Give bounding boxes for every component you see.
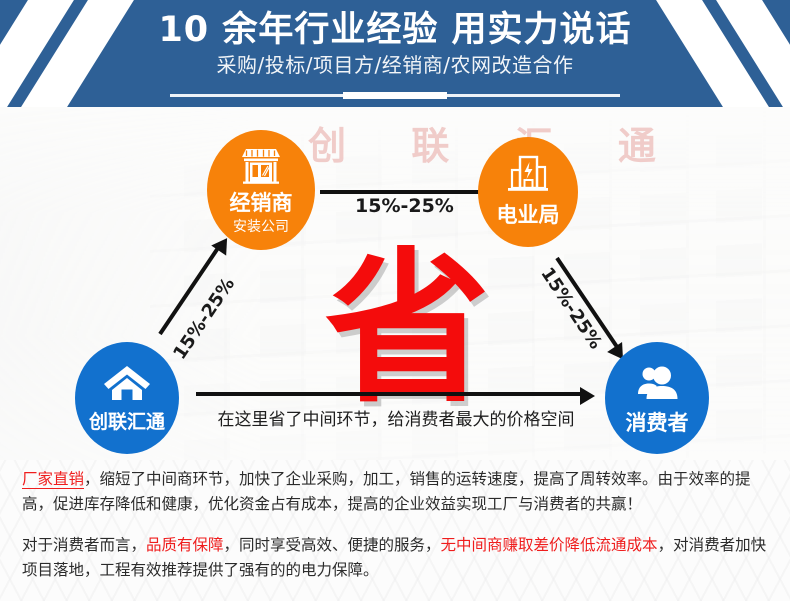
footer-paragraph-1: 厂家直销，缩短了中间商环节，加快了企业采购，加工，销售的运转速度，提高了周转效率… — [22, 460, 774, 517]
node-dealer[interactable]: 经销商 安装公司 — [207, 130, 315, 250]
footer-text-block: 厂家直销，缩短了中间商环节，加快了企业采购，加工，销售的运转速度，提高了周转效率… — [22, 460, 774, 583]
header-content: 10 余年行业经验 用实力说话 采购/投标/项目方/经销商/农网改造合作 — [0, 0, 790, 107]
footer-highlight-manufacturer: 厂家直销 — [22, 470, 84, 489]
page-header: 10 余年行业经验 用实力说话 采购/投标/项目方/经销商/农网改造合作 — [0, 0, 790, 107]
footer-paragraph-1-rest: ，缩短了中间商环节，加快了企业采购，加工，销售的运转速度，提高了周转效率。由于效… — [22, 470, 751, 513]
footer-paragraph-2-lead: 对于消费者而言， — [22, 536, 146, 554]
arrow-shaft — [320, 190, 481, 194]
footer-paragraph-2: 对于消费者而言，品质有保障，同时享受高效、便捷的服务，无中间商赚取差价降低流通成… — [22, 517, 774, 583]
node-power-bureau-label: 电业局 — [478, 205, 578, 226]
house-icon — [75, 364, 179, 407]
header-title: 10 余年行业经验 用实力说话 — [0, 0, 790, 51]
power-building-icon — [478, 154, 578, 199]
node-dealer-sublabel: 安装公司 — [207, 220, 315, 234]
node-power-bureau[interactable]: 电业局 — [478, 137, 578, 247]
footer-highlight-quality: 品质有保障 — [146, 536, 224, 554]
arrow-shaft — [196, 392, 582, 396]
node-consumer-label: 消费者 — [605, 413, 709, 434]
footer-paragraph-2-middle: ，同时享受高效、便捷的服务， — [224, 536, 441, 554]
node-dealer-label: 经销商 — [207, 193, 315, 214]
flow-diagram: 创 联 汇 通 省 15%-25% 15%-25% 15%-25% 在这里省了中… — [0, 107, 790, 460]
node-consumer[interactable]: 消费者 — [605, 342, 709, 454]
header-subtitle: 采购/投标/项目方/经销商/农网改造合作 — [0, 51, 790, 77]
arrow-label-dealer-to-power: 15%-25% — [355, 195, 454, 217]
node-brand-label: 创联汇通 — [75, 413, 179, 432]
arrow-label-brand-to-consumer: 在这里省了中间环节，给消费者最大的价格空间 — [196, 405, 596, 430]
arrow-head-icon — [580, 387, 595, 405]
footer-highlight-no-middleman: 无中间商赚取差价降低流通成本 — [441, 536, 658, 554]
footer-description: 厂家直销，缩短了中间商环节，加快了企业采购，加工，销售的运转速度，提高了周转效率… — [0, 460, 790, 601]
people-icon — [605, 364, 709, 407]
promo-banner-page: 10 余年行业经验 用实力说话 采购/投标/项目方/经销商/农网改造合作 创 联… — [0, 0, 790, 601]
arrow-brand-to-consumer — [196, 385, 596, 403]
node-brand[interactable]: 创联汇通 — [75, 342, 179, 454]
storefront-icon — [207, 146, 315, 189]
